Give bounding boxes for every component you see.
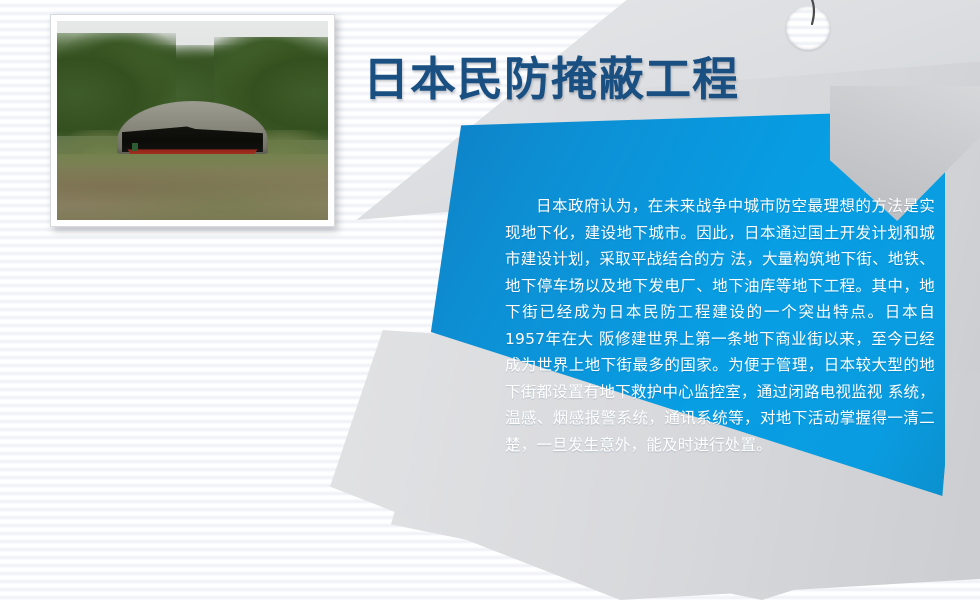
page-title: 日本民防掩蔽工程 [363,52,739,106]
punch-hole-icon [786,6,830,50]
hook-string-icon [782,0,828,26]
bunker-photo [57,21,328,220]
photo-side-door [132,143,139,151]
photo-frame [50,14,335,227]
body-paragraph: 日本政府认为，在未来战争中城市防空最理想的方法是实现地下化，建设地下城市。因此，… [505,193,935,458]
slide-canvas: 日本民防掩蔽工程 日本政府认为，在未来战争中城市防空最理想的方法是实现地下化，建… [0,0,980,600]
photo-foreground-field [57,154,328,220]
